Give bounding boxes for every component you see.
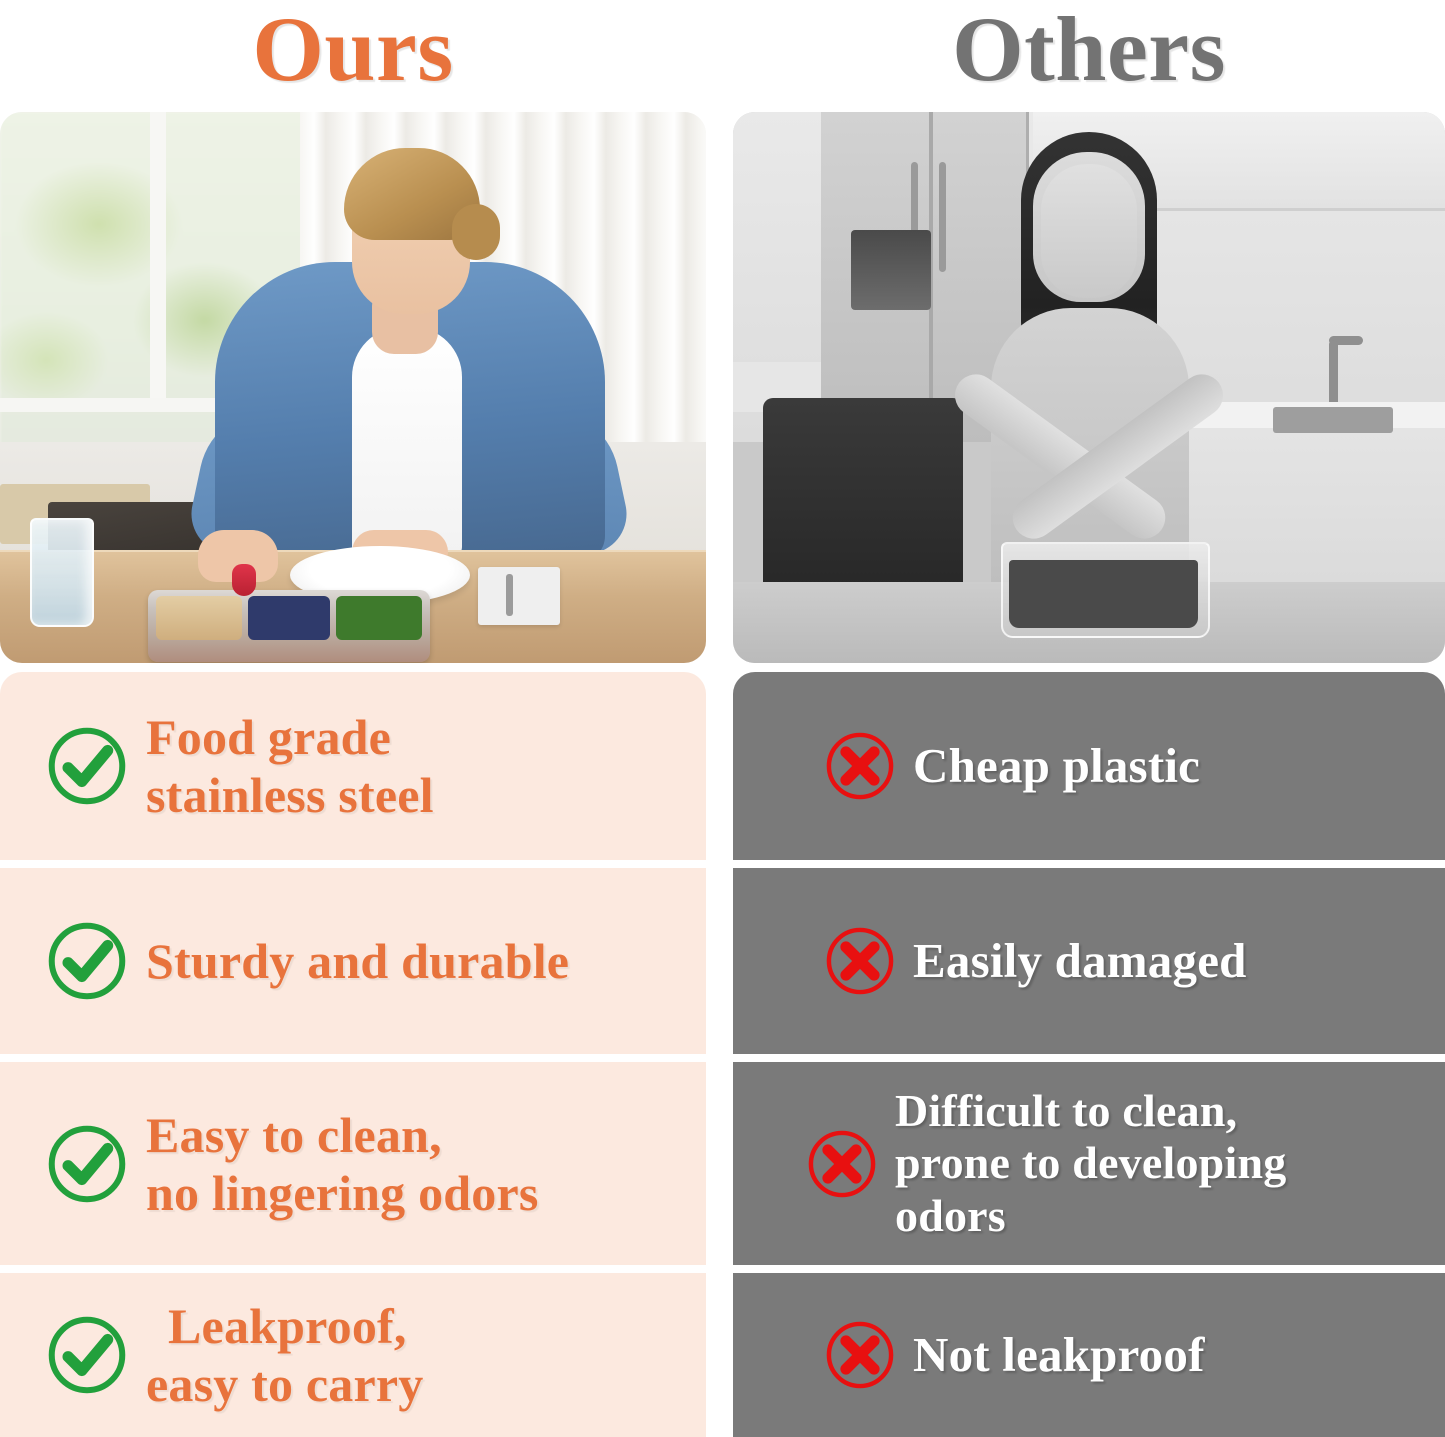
napkin-decor xyxy=(478,567,560,625)
fridge-handle-decor xyxy=(939,162,946,272)
water-glass-decor xyxy=(30,518,94,627)
feature-line: Food grade xyxy=(146,708,434,766)
feature-line: odors xyxy=(895,1190,1286,1242)
strawberry-decor xyxy=(232,564,256,596)
feature-row-ours-3: Easy to clean, no lingering odors xyxy=(0,1062,706,1265)
photo-others xyxy=(733,112,1445,663)
feature-line: no lingering odors xyxy=(146,1164,539,1222)
feature-row-ours-4: Leakproof, easy to carry xyxy=(0,1273,706,1437)
cross-circle-icon xyxy=(823,729,897,803)
features-list-others: Cheap plastic Easily damaged xyxy=(733,672,1445,1437)
column-ours: Food grade stainless steel Sturdy and du… xyxy=(0,112,706,1437)
headings-row: Ours Others xyxy=(0,0,1445,110)
feature-line: Difficult to clean, xyxy=(895,1085,1286,1137)
feature-text-ours-1: Food grade stainless steel xyxy=(146,708,434,824)
feature-line: stainless steel xyxy=(146,766,434,824)
features-list-ours: Food grade stainless steel Sturdy and du… xyxy=(0,672,706,1437)
feature-line: Easy to clean, xyxy=(146,1106,539,1164)
feature-line: easy to carry xyxy=(146,1355,423,1413)
tray-compartment-fruit-decor xyxy=(248,596,330,640)
heading-ours: Ours xyxy=(0,0,706,104)
feature-line: Cheap plastic xyxy=(913,738,1200,794)
hair-bun-decor xyxy=(452,204,500,260)
comparison-infographic: Ours Others xyxy=(0,0,1445,1413)
check-circle-icon xyxy=(44,918,130,1004)
sink-decor xyxy=(1273,407,1393,433)
photo-ours xyxy=(0,112,706,663)
feature-text-others-1: Cheap plastic xyxy=(913,738,1200,794)
feature-row-others-1: Cheap plastic xyxy=(733,672,1445,860)
check-circle-icon xyxy=(44,1121,130,1207)
heading-others: Others xyxy=(733,0,1445,104)
chair-decor xyxy=(763,398,963,598)
feature-text-others-2: Easily damaged xyxy=(913,933,1247,989)
feature-text-others-4: Not leakproof xyxy=(913,1327,1205,1383)
cross-circle-icon xyxy=(823,1318,897,1392)
feature-text-ours-2: Sturdy and durable xyxy=(146,932,569,990)
container-food-decor xyxy=(1009,560,1198,628)
feature-row-ours-1: Food grade stainless steel xyxy=(0,672,706,860)
face-decor xyxy=(1041,164,1137,298)
feature-text-others-3: Difficult to clean, prone to developing … xyxy=(895,1085,1286,1242)
feature-line: prone to developing xyxy=(895,1137,1286,1189)
column-others: Cheap plastic Easily damaged xyxy=(733,112,1445,1437)
feature-text-ours-4: Leakproof, easy to carry xyxy=(146,1297,423,1413)
feature-line: Sturdy and durable xyxy=(146,932,569,990)
check-circle-icon xyxy=(44,1312,130,1398)
tray-compartment-sandwich-decor xyxy=(156,596,242,640)
water-dispenser-decor xyxy=(851,230,931,310)
feature-row-others-4: Not leakproof xyxy=(733,1273,1445,1437)
cross-circle-icon xyxy=(823,924,897,998)
tray-compartment-broccoli-decor xyxy=(336,596,422,640)
feature-row-ours-2: Sturdy and durable xyxy=(0,868,706,1054)
feature-text-ours-3: Easy to clean, no lingering odors xyxy=(146,1106,539,1222)
check-circle-icon xyxy=(44,723,130,809)
window-frame-decor xyxy=(150,112,166,412)
feature-row-others-3: Difficult to clean, prone to developing … xyxy=(733,1062,1445,1265)
feature-line: Not leakproof xyxy=(913,1327,1205,1383)
faucet-decor xyxy=(1329,340,1338,410)
fork-decor xyxy=(506,574,513,616)
feature-row-others-2: Easily damaged xyxy=(733,868,1445,1054)
white-tee-decor xyxy=(352,327,462,557)
feature-line: Leakproof, xyxy=(146,1297,423,1355)
cross-circle-icon xyxy=(805,1127,879,1201)
feature-line: Easily damaged xyxy=(913,933,1247,989)
